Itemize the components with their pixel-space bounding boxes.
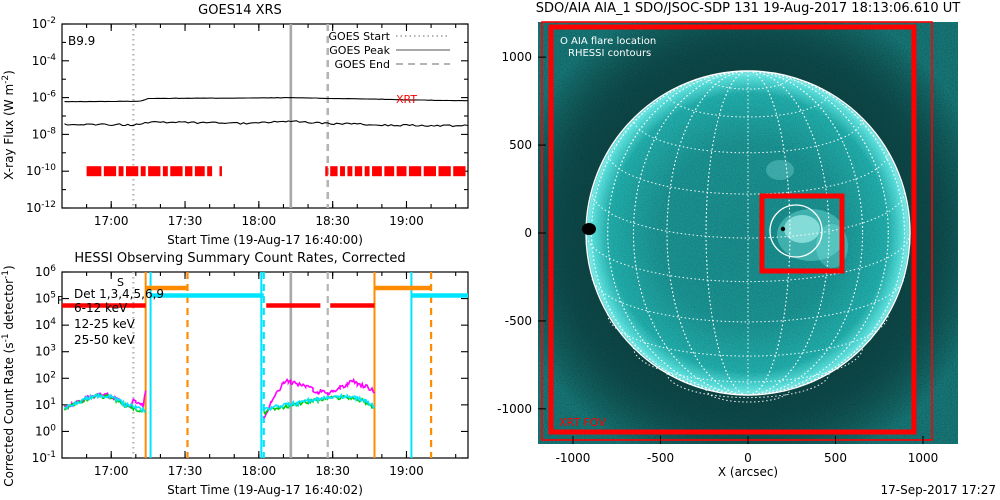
xrt-coverage-bar (141, 166, 146, 176)
sun-x-tick-label: 1000 (908, 451, 939, 465)
sun-y-tick-label: -500 (505, 314, 532, 328)
xrt-coverage-bar (365, 166, 370, 176)
flare-flag-letter: F (57, 294, 63, 307)
goes-x-tick-label: 19:00 (389, 214, 424, 228)
goes-series-1 (65, 121, 469, 127)
hessi-band-label: 25-50 keV (74, 333, 136, 347)
hessi-x-tick-label: 17:30 (168, 464, 203, 478)
limb-dark-feature (582, 223, 596, 235)
goes-ylabel-main: X-ray Flux (W m (2, 84, 16, 180)
xrt-coverage-bar (325, 166, 327, 176)
xrt-coverage-bar (185, 166, 192, 176)
xrt-coverage-bar (397, 166, 407, 176)
hessi-vertical-markers (133, 272, 431, 458)
sun-y-tick-label: -1000 (497, 402, 532, 416)
hessi-y-tick-label: 105 (35, 291, 56, 306)
hessi-x-tick-label: 18:30 (315, 464, 350, 478)
hessi-x-tick-label: 18:00 (242, 464, 277, 478)
xrt-coverage-bar (170, 166, 182, 176)
hessi-x-tick-label: 19:00 (389, 464, 424, 478)
hessi-x-tick-label: 17:00 (94, 464, 129, 478)
sun-y-tick-label: 1000 (501, 50, 532, 64)
xrt-coverage-bar (148, 166, 160, 176)
goes-x-tick-label: 18:00 (242, 214, 277, 228)
hessi-y-axis-label: Corrected Count Rate (s-1 detector-1) (1, 265, 16, 486)
xrt-coverage-bar (104, 166, 116, 176)
xrt-coverage-bar (87, 166, 102, 176)
goes-ylabel-exp: -2 (1, 75, 11, 84)
xrt-coverage-bar (195, 166, 205, 176)
goes-ylabel-tail: ) (2, 70, 16, 75)
xrt-coverage-bar (384, 166, 394, 176)
aia-flare-location-annotation: O AIA flare location (560, 36, 656, 47)
xrt-fov-label: XRT FOV (559, 416, 606, 429)
goes-legend-label: GOES End (334, 58, 390, 71)
xrt-coverage-bar (219, 166, 221, 176)
xrt-coverage-bar (372, 166, 382, 176)
xrt-coverage-bar (453, 166, 465, 176)
xrt-label: XRT (396, 93, 417, 106)
hessi-y-tick-label: 100 (35, 423, 56, 438)
goes-x-ticks: 17:0017:3018:0018:3019:00Start Time (19-… (87, 24, 456, 247)
sun-y-tick-label: 0 (524, 226, 532, 240)
goes-y-tick-label: 10-6 (32, 90, 57, 105)
hessi-ylabel-tail: ) (2, 265, 16, 270)
goes-legend-label: GOES Start (329, 30, 391, 43)
hessi-detector-label: Det 1,3,4,5,6,9 (74, 287, 164, 301)
xrt-coverage-bar (207, 166, 212, 176)
sun-x-tick-label: 500 (824, 451, 847, 465)
hessi-ylabel-mid: detector (2, 279, 16, 334)
sun-y-tick-label: 500 (509, 138, 532, 152)
sun-x-axis-label: X (arcsec) (718, 465, 778, 479)
hessi-band-label: 12-25 keV (74, 317, 136, 331)
hessi-ylabel-main: Corrected Count Rate (s (2, 342, 16, 486)
xrt-coverage-bar (438, 166, 450, 176)
hessi-y-tick-label: 102 (35, 370, 56, 385)
goes-xrs-panel: GOES14 XRS X-ray Flux (W m-2) 10-210-410… (0, 0, 480, 250)
hessi-y-tick-label: 104 (35, 317, 56, 332)
goes-panel-title: GOES14 XRS (198, 3, 282, 18)
xrt-coverage-bar (347, 166, 352, 176)
goes-x-tick-label: 18:30 (315, 214, 350, 228)
figure-timestamp: 17-Sep-2017 17:27 (881, 483, 996, 497)
aia-image (503, 0, 993, 478)
goes-y-tick-label: 10-8 (32, 126, 57, 141)
xrt-coverage-bar (424, 166, 436, 176)
hessi-y-tick-label: 10-1 (32, 450, 56, 465)
xrt-coverage-bar (330, 166, 337, 176)
svg-text:X-ray Flux (W m-2): X-ray Flux (W m-2) (1, 70, 16, 180)
xrt-coverage-bar (355, 166, 362, 176)
goes-y-tick-label: 10-10 (26, 163, 56, 178)
goes-x-axis-label: Start Time (19-Aug-17 16:40:00) (167, 233, 363, 247)
hessi-x-axis-label: Start Time (19-Aug-17 16:40:02) (167, 483, 363, 497)
goes-y-tick-label: 10-2 (32, 16, 56, 31)
goes-x-tick-label: 17:30 (168, 214, 203, 228)
xrt-coverage-bar (126, 166, 138, 176)
hessi-ylabel-exp1: -1 (1, 333, 11, 342)
goes-x-tick-label: 17:00 (94, 214, 129, 228)
hessi-count-rate-panel: HESSI Observing Summary Count Rates, Cor… (0, 248, 480, 500)
hessi-energy-band-labels: 6-12 keV12-25 keV25-50 keV (74, 301, 136, 347)
sdo-aia-image-panel: SDO/AIA AIA_1 SDO/JSOC-SDP 131 19-Aug-20… (480, 0, 1000, 500)
xrt-coverage-bar (163, 166, 168, 176)
sun-x-tick-label: -500 (647, 451, 674, 465)
hessi-y-tick-label: 103 (35, 344, 56, 359)
rhessi-contours-annotation: RHESSI contours (568, 48, 651, 59)
hessi-panel-title: HESSI Observing Summary Count Rates, Cor… (74, 251, 405, 266)
xrt-coverage-bar (409, 166, 421, 176)
hessi-y-tick-label: 106 (35, 264, 56, 279)
hessi-y-tick-label: 101 (35, 397, 56, 412)
svg-text:Corrected Count Rate (s-1 dete: Corrected Count Rate (s-1 detector-1) (1, 265, 16, 486)
aia-flare-location-marker (781, 227, 785, 231)
hessi-band-label: 6-12 keV (74, 301, 128, 315)
goes-legend-label: GOES Peak (329, 44, 390, 57)
goes-plot-frame (62, 24, 468, 208)
sun-panel-title: SDO/AIA AIA_1 SDO/JSOC-SDP 131 19-Aug-20… (536, 1, 961, 16)
sun-x-tick-label: -1000 (556, 451, 591, 465)
goes-y-tick-label: 10-12 (26, 200, 56, 215)
xrt-coverage-bars (87, 166, 466, 176)
goes-flare-class-label: B9.9 (68, 34, 95, 48)
xrt-coverage-bar (340, 166, 345, 176)
goes-legend: GOES StartGOES PeakGOES End (329, 30, 450, 71)
goes-y-axis-label: X-ray Flux (W m-2) (1, 70, 16, 180)
sun-x-tick-label: 0 (744, 451, 752, 465)
hessi-ylabel-exp2: -1 (1, 270, 11, 279)
goes-vertical-markers (133, 24, 327, 208)
xrt-coverage-bar (119, 166, 124, 176)
goes-y-tick-label: 10-4 (32, 53, 57, 68)
